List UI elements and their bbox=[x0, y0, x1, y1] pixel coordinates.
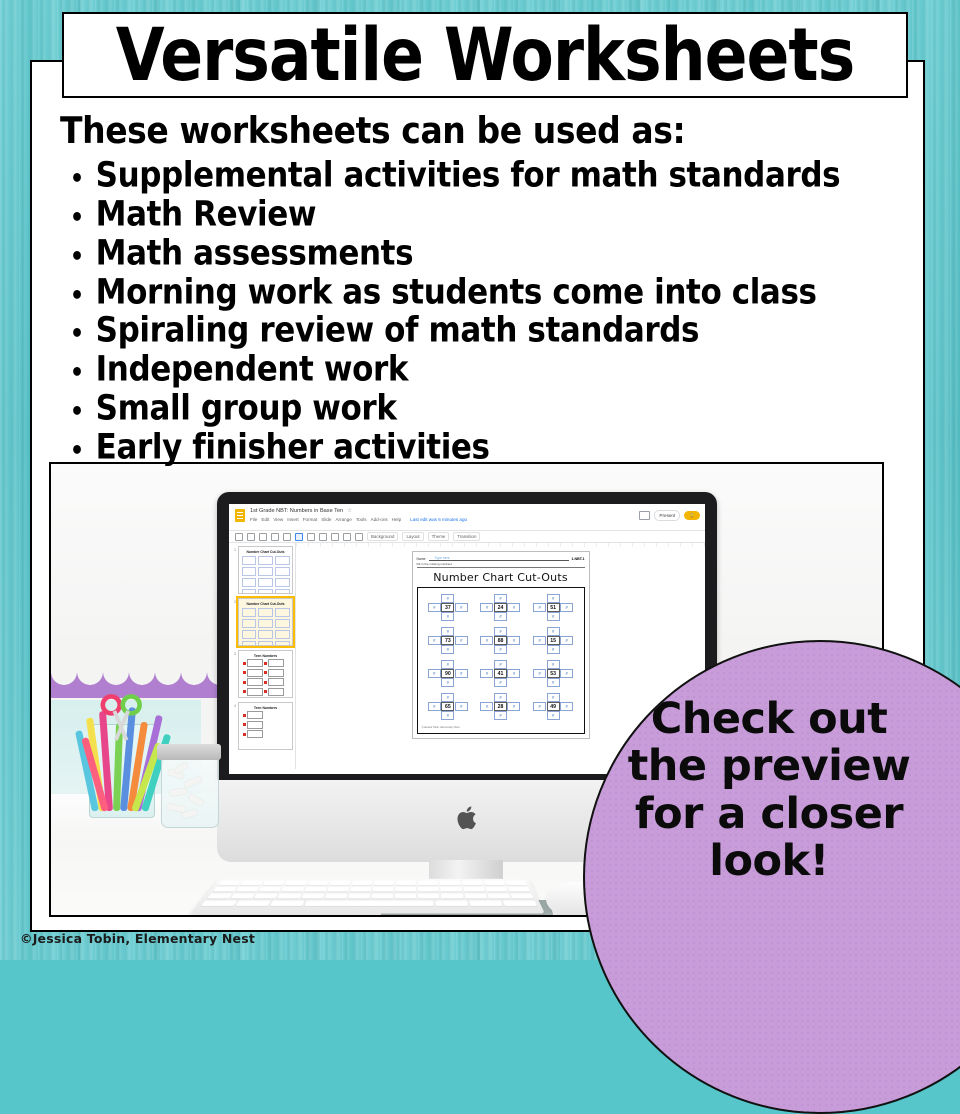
key bbox=[231, 894, 256, 899]
blank-cell-bottom[interactable]: # bbox=[441, 678, 454, 687]
bullet-icon: • bbox=[70, 400, 84, 425]
keyboard-row bbox=[218, 881, 527, 885]
number-plus-cell[interactable]: # # 41 # # bbox=[479, 660, 521, 687]
blank-cell-bottom[interactable]: # bbox=[441, 612, 454, 621]
present-button[interactable]: Present bbox=[654, 510, 680, 521]
thumbnail-title: Number Chart Cut-Outs bbox=[241, 602, 291, 606]
key bbox=[351, 881, 372, 885]
thumbnail-tenframe-row bbox=[243, 730, 289, 738]
thumbnail-cell bbox=[242, 578, 257, 587]
bullet-icon: • bbox=[70, 361, 84, 386]
blank-cell-top[interactable]: # bbox=[547, 627, 560, 636]
content-body: These worksheets can be used as: •Supple… bbox=[60, 110, 900, 464]
lead-text: These worksheets can be used as: bbox=[60, 110, 900, 152]
counter-dot bbox=[243, 671, 246, 674]
apple-logo-icon bbox=[456, 805, 478, 831]
zoom-icon[interactable] bbox=[283, 533, 291, 541]
worksheet-slide[interactable]: Name Type here 1.NBT.1 Fill in the missi… bbox=[412, 551, 590, 739]
key bbox=[201, 901, 237, 906]
thumbnail-cell bbox=[242, 567, 257, 576]
blank-cell-right[interactable]: # bbox=[455, 702, 468, 711]
list-item-label: Independent work bbox=[96, 348, 408, 391]
key bbox=[418, 887, 439, 892]
key bbox=[258, 887, 281, 892]
thumbnail-cell bbox=[258, 589, 273, 595]
list-item: •Math assessments bbox=[70, 232, 900, 275]
key bbox=[263, 881, 286, 885]
key bbox=[508, 887, 531, 892]
blank-cell-left[interactable]: # bbox=[480, 669, 493, 678]
comment-icon[interactable] bbox=[639, 511, 650, 520]
menu-item-tools[interactable]: Tools bbox=[356, 517, 367, 523]
key bbox=[371, 894, 393, 899]
chalk-jar bbox=[161, 752, 219, 828]
blank-cell-bottom[interactable]: # bbox=[547, 711, 560, 720]
key bbox=[307, 881, 329, 885]
blank-cell-left[interactable]: # bbox=[428, 636, 441, 645]
slide-number: 3 bbox=[231, 650, 236, 656]
blank-cell-top[interactable]: # bbox=[494, 594, 507, 603]
number-plus-cell[interactable]: # # 24 # # bbox=[479, 594, 521, 621]
given-number: 24 bbox=[494, 603, 507, 612]
blank-cell-top[interactable]: # bbox=[547, 660, 560, 669]
page-title: Versatile Worksheets bbox=[116, 18, 854, 91]
worksheet-name-row: Name Type here 1.NBT.1 bbox=[417, 555, 585, 561]
spacebar-key bbox=[304, 901, 433, 906]
thumbnail-title: Teen Numbers bbox=[241, 706, 291, 710]
thumbnail-cell bbox=[242, 589, 257, 595]
blank-cell-right[interactable]: # bbox=[455, 603, 468, 612]
menu-item-help[interactable]: Help bbox=[392, 517, 401, 523]
thumbnail-title: Teen Numbers bbox=[241, 654, 291, 658]
key bbox=[324, 894, 347, 899]
key bbox=[236, 887, 260, 892]
blank-cell-left[interactable]: # bbox=[480, 603, 493, 612]
key bbox=[463, 887, 485, 892]
select-tool-icon[interactable] bbox=[295, 533, 303, 541]
menu-item-insert[interactable]: Insert bbox=[287, 517, 299, 523]
number-plus-cell[interactable]: # # 65 # # bbox=[427, 693, 469, 720]
key bbox=[418, 881, 438, 885]
last-edit-label[interactable]: Last edit was 6 minutes ago bbox=[410, 517, 467, 523]
textbox-icon[interactable] bbox=[307, 533, 315, 541]
list-item[interactable]: 2 Number Chart Cut-Outs bbox=[231, 598, 293, 646]
menu-item-format[interactable]: Format bbox=[303, 517, 318, 523]
apple-keyboard[interactable] bbox=[190, 879, 545, 914]
ten-frame bbox=[247, 711, 263, 719]
lock-icon: 🔒 bbox=[689, 513, 695, 519]
benefits-list: •Supplemental activities for math standa… bbox=[60, 154, 900, 464]
key bbox=[469, 901, 502, 906]
blank-cell-right[interactable]: # bbox=[560, 636, 573, 645]
blank-cell-right[interactable]: # bbox=[507, 636, 520, 645]
thumbnail-cell bbox=[275, 608, 290, 617]
blank-cell-top[interactable]: # bbox=[441, 627, 454, 636]
blank-cell-bottom[interactable]: # bbox=[494, 645, 507, 654]
ten-frame bbox=[247, 659, 263, 667]
callout-line-2: the preview bbox=[585, 743, 953, 790]
ten-frame bbox=[268, 688, 284, 696]
slides-title-area: 1st Grade NBT: Numbers in Base Ten☆ File… bbox=[250, 508, 639, 523]
counter-dot bbox=[264, 681, 267, 684]
share-button[interactable]: 🔒 bbox=[684, 511, 700, 520]
key bbox=[218, 881, 242, 885]
number-plus-cell[interactable]: # # 53 # # bbox=[532, 660, 574, 687]
bullet-icon: • bbox=[70, 245, 84, 270]
list-item-label: Early finisher activities bbox=[96, 426, 490, 469]
list-item-label: Small group work bbox=[96, 387, 397, 430]
document-title[interactable]: 1st Grade NBT: Numbers in Base Ten☆ bbox=[250, 508, 639, 515]
menu-item-slide[interactable]: Slide bbox=[321, 517, 331, 523]
blank-cell-top[interactable]: # bbox=[547, 594, 560, 603]
slides-toolbar: Background Layout Theme Transition bbox=[229, 530, 705, 543]
list-item-label: Math assessments bbox=[96, 232, 413, 275]
number-plus-cell[interactable]: # # 73 # # bbox=[427, 627, 469, 654]
title-banner: Versatile Worksheets bbox=[62, 12, 908, 98]
chalk-piece bbox=[184, 776, 203, 789]
thumbnail-cell bbox=[242, 641, 257, 647]
number-plus-cell[interactable]: # # 49 # # bbox=[532, 693, 574, 720]
counter-dot bbox=[243, 723, 246, 726]
key bbox=[373, 887, 394, 892]
thumbnail-cell bbox=[258, 556, 273, 565]
slides-menubar[interactable]: File Edit View Insert Format Slide Arran… bbox=[250, 517, 639, 523]
blank-cell-top[interactable]: # bbox=[494, 660, 507, 669]
bullet-icon: • bbox=[70, 168, 84, 193]
thumbnail-cell bbox=[258, 567, 273, 576]
list-item[interactable]: 3 Teen Numbers bbox=[231, 650, 293, 698]
blank-cell-top[interactable]: # bbox=[494, 627, 507, 636]
key bbox=[396, 881, 416, 885]
key bbox=[329, 881, 350, 885]
key bbox=[236, 901, 271, 906]
list-item: •Spiraling review of math standards bbox=[70, 309, 900, 352]
key bbox=[254, 894, 278, 899]
ten-frame bbox=[247, 730, 263, 738]
thumbnail-title: Number Chart Cut-Outs bbox=[241, 550, 291, 554]
ten-frame bbox=[268, 659, 284, 667]
bullet-icon: • bbox=[70, 323, 84, 348]
list-item: •Small group work bbox=[70, 387, 900, 430]
thumbnail-cell bbox=[275, 556, 290, 565]
key bbox=[485, 887, 507, 892]
thumbnail-cell bbox=[258, 608, 273, 617]
key bbox=[240, 881, 263, 885]
bullet-icon: • bbox=[70, 439, 84, 464]
key bbox=[487, 894, 510, 899]
blank-cell-bottom[interactable]: # bbox=[547, 612, 560, 621]
slide-thumbnail-2[interactable]: Number Chart Cut-Outs bbox=[238, 598, 293, 646]
given-number: 49 bbox=[547, 702, 560, 711]
key bbox=[440, 881, 461, 885]
key bbox=[304, 887, 327, 892]
key bbox=[441, 887, 462, 892]
given-number: 41 bbox=[494, 669, 507, 678]
blank-cell-right[interactable]: # bbox=[507, 702, 520, 711]
worksheet-title: Number Chart Cut-Outs bbox=[417, 571, 585, 584]
jar-lid bbox=[157, 744, 221, 760]
shape-icon[interactable] bbox=[331, 533, 339, 541]
worksheet-credit: ©Jessica Tobin, Elementary Nest bbox=[422, 726, 580, 729]
thumbnail-grid bbox=[241, 555, 291, 595]
counter-dot bbox=[243, 690, 246, 693]
blank-cell-bottom[interactable]: # bbox=[494, 711, 507, 720]
thumbnail-cell bbox=[275, 641, 290, 647]
thumbnail-tenframe-row bbox=[243, 659, 289, 667]
counter-dot bbox=[264, 671, 267, 674]
number-plus-cell[interactable]: # # 90 # # bbox=[427, 660, 469, 687]
key bbox=[441, 894, 463, 899]
slide-number: 2 bbox=[231, 598, 236, 604]
key bbox=[348, 894, 370, 899]
counter-dot bbox=[264, 662, 267, 665]
given-number: 51 bbox=[547, 603, 560, 612]
key bbox=[395, 894, 416, 899]
image-icon[interactable] bbox=[319, 533, 327, 541]
blank-cell-bottom[interactable]: # bbox=[547, 645, 560, 654]
blank-cell-left[interactable]: # bbox=[428, 669, 441, 678]
keyboard-row bbox=[201, 901, 537, 906]
list-item: •Independent work bbox=[70, 348, 900, 391]
key bbox=[395, 887, 416, 892]
key bbox=[285, 881, 307, 885]
slides-actions: Present 🔒 bbox=[639, 510, 700, 521]
chalk-piece bbox=[170, 788, 188, 796]
chalk-piece bbox=[188, 793, 205, 806]
menu-item-file[interactable]: File bbox=[250, 517, 257, 523]
name-label: Name bbox=[417, 557, 426, 561]
ten-frame bbox=[247, 669, 263, 677]
thumbnail-tenframe-row bbox=[243, 721, 289, 729]
thumbnail-cell bbox=[258, 578, 273, 587]
bullet-icon: • bbox=[70, 284, 84, 309]
blank-cell-bottom[interactable]: # bbox=[494, 612, 507, 621]
list-item: •Early finisher activities bbox=[70, 426, 900, 469]
blank-cell-left[interactable]: # bbox=[533, 603, 546, 612]
blank-cell-left[interactable]: # bbox=[428, 603, 441, 612]
number-plus-cell[interactable]: # # 37 # # bbox=[427, 594, 469, 621]
callout-line-3: for a closer bbox=[585, 791, 953, 838]
blank-cell-bottom[interactable]: # bbox=[547, 678, 560, 687]
table-row: # # 37 # # # # bbox=[422, 594, 580, 621]
worksheet-grid: # # 37 # # # # bbox=[417, 587, 585, 734]
paint-format-icon[interactable] bbox=[271, 533, 279, 541]
menu-item-arrange[interactable]: Arrange bbox=[335, 517, 351, 523]
key bbox=[503, 901, 537, 906]
thumbnail-cell bbox=[242, 556, 257, 565]
blank-cell-top[interactable]: # bbox=[441, 693, 454, 702]
ten-frame bbox=[268, 669, 284, 677]
counter-dot bbox=[243, 681, 246, 684]
counter-dot bbox=[243, 714, 246, 717]
key bbox=[418, 894, 439, 899]
key bbox=[270, 901, 305, 906]
slide-number: 4 bbox=[231, 702, 236, 708]
number-plus-cell[interactable]: # # 15 # # bbox=[532, 627, 574, 654]
thumbnail-tenframe-row bbox=[243, 669, 289, 677]
slide-number: 1 bbox=[231, 546, 236, 552]
menu-item-edit[interactable]: Edit bbox=[261, 517, 269, 523]
blank-cell-top[interactable]: # bbox=[547, 693, 560, 702]
key bbox=[301, 894, 324, 899]
number-plus-cell[interactable]: # # 28 # # bbox=[479, 693, 521, 720]
key bbox=[281, 887, 304, 892]
key bbox=[374, 881, 395, 885]
list-item[interactable]: 1 Number Chart Cut-Outs bbox=[231, 546, 293, 594]
blank-cell-top[interactable]: # bbox=[441, 594, 454, 603]
thumbnail-cell bbox=[275, 578, 290, 587]
counter-dot bbox=[264, 690, 267, 693]
list-item: •Supplemental activities for math standa… bbox=[70, 154, 900, 197]
blank-cell-right[interactable]: # bbox=[507, 603, 520, 612]
blank-cell-right[interactable]: # bbox=[560, 603, 573, 612]
thumbnail-grid bbox=[241, 607, 291, 647]
copyright-credit: ©Jessica Tobin, Elementary Nest bbox=[20, 931, 255, 946]
key bbox=[464, 894, 486, 899]
line-icon[interactable] bbox=[343, 533, 351, 541]
list-item[interactable]: 4 Teen Numbers bbox=[231, 702, 293, 750]
document-title-text: 1st Grade NBT: Numbers in Base Ten bbox=[250, 508, 343, 514]
blank-cell-left[interactable]: # bbox=[428, 702, 441, 711]
given-number: 65 bbox=[441, 702, 454, 711]
key bbox=[505, 881, 527, 885]
print-icon[interactable] bbox=[259, 533, 267, 541]
thumbnail-cell bbox=[258, 630, 273, 639]
new-slide-icon[interactable] bbox=[355, 533, 363, 541]
slides-header: 1st Grade NBT: Numbers in Base Ten☆ File… bbox=[229, 504, 705, 530]
blank-cell-left[interactable]: # bbox=[533, 702, 546, 711]
given-number: 88 bbox=[494, 636, 507, 645]
thumbnail-cell bbox=[258, 641, 273, 647]
given-number: 53 bbox=[547, 669, 560, 678]
thumbnail-cell bbox=[275, 589, 290, 595]
thumbnail-cell bbox=[275, 630, 290, 639]
blank-cell-bottom[interactable]: # bbox=[441, 645, 454, 654]
given-number: 90 bbox=[441, 669, 454, 678]
keyboard-row bbox=[213, 887, 531, 892]
undo-icon[interactable] bbox=[235, 533, 243, 541]
key bbox=[327, 887, 349, 892]
layout-button[interactable]: Layout bbox=[402, 532, 423, 541]
list-item-label: Morning work as students come into class bbox=[96, 271, 817, 314]
star-icon[interactable]: ☆ bbox=[347, 508, 352, 514]
chalk-piece bbox=[167, 803, 187, 812]
preview-callout-circle[interactable]: Check out the preview for a closer look! bbox=[583, 640, 960, 1114]
list-item: •Morning work as students come into clas… bbox=[70, 271, 900, 314]
ten-frame bbox=[247, 721, 263, 729]
thumbnail-tenframe-row bbox=[243, 688, 289, 696]
thumbnail-cell bbox=[258, 619, 273, 628]
worksheet-instruction: Fill in the missing numbers bbox=[417, 562, 585, 568]
scissors-icon bbox=[99, 694, 145, 748]
table-row: # # 73 # # # # bbox=[422, 627, 580, 654]
blank-cell-right[interactable]: # bbox=[455, 669, 468, 678]
counter-dot bbox=[243, 733, 246, 736]
bullet-icon: • bbox=[70, 206, 84, 231]
ten-frame bbox=[247, 678, 263, 686]
slides-document-icon bbox=[235, 509, 245, 522]
thumbnail-tenframe-row bbox=[243, 678, 289, 686]
menu-item-addons[interactable]: Add-ons bbox=[371, 517, 388, 523]
thumbnail-cell bbox=[242, 630, 257, 639]
blank-cell-left[interactable]: # bbox=[480, 702, 493, 711]
background-button[interactable]: Background bbox=[367, 532, 398, 541]
blank-cell-right[interactable]: # bbox=[455, 636, 468, 645]
keyboard-row bbox=[207, 894, 534, 899]
ten-frame bbox=[247, 688, 263, 696]
blank-cell-left[interactable]: # bbox=[533, 636, 546, 645]
key bbox=[213, 887, 237, 892]
callout-text: Check out the preview for a closer look! bbox=[585, 696, 953, 885]
redo-icon[interactable] bbox=[247, 533, 255, 541]
callout-line-4: look! bbox=[585, 838, 953, 885]
given-number: 28 bbox=[494, 702, 507, 711]
thumbnail-cell bbox=[242, 608, 257, 617]
number-plus-cell[interactable]: # # 51 # # bbox=[532, 594, 574, 621]
blank-cell-bottom[interactable]: # bbox=[441, 711, 454, 720]
name-input[interactable]: Type here bbox=[429, 555, 569, 561]
present-label: Present bbox=[659, 513, 675, 518]
blank-cell-right[interactable]: # bbox=[560, 702, 573, 711]
standard-code: 1.NBT.1 bbox=[572, 557, 585, 561]
blank-cell-left[interactable]: # bbox=[533, 669, 546, 678]
name-placeholder: Type here bbox=[435, 556, 450, 560]
canvas-ruler bbox=[296, 543, 705, 547]
key bbox=[435, 901, 468, 906]
transition-button[interactable]: Transition bbox=[453, 532, 480, 541]
table-row: # # 90 # # # # bbox=[422, 660, 580, 687]
key bbox=[484, 881, 506, 885]
number-plus-cell[interactable]: # # 88 # # bbox=[479, 627, 521, 654]
slide-thumbnail-1[interactable]: Number Chart Cut-Outs bbox=[238, 546, 293, 594]
ten-frame bbox=[268, 678, 284, 686]
table-row: # # 65 # # # # bbox=[422, 693, 580, 720]
thumbnail-cell bbox=[242, 619, 257, 628]
thumbnail-tenframe-row bbox=[243, 711, 289, 719]
menu-item-view[interactable]: View bbox=[273, 517, 283, 523]
blank-cell-bottom[interactable]: # bbox=[494, 678, 507, 687]
blank-cell-top[interactable]: # bbox=[441, 660, 454, 669]
thumbnail-cell bbox=[275, 619, 290, 628]
key bbox=[278, 894, 302, 899]
callout-line-1: Check out bbox=[585, 696, 953, 743]
slide-thumbnail-panel[interactable]: 1 Number Chart Cut-Outs bbox=[229, 543, 296, 769]
key bbox=[350, 887, 372, 892]
slide-thumbnail-4[interactable]: Teen Numbers bbox=[238, 702, 293, 750]
key bbox=[462, 881, 483, 885]
key bbox=[510, 894, 533, 899]
given-number: 15 bbox=[547, 636, 560, 645]
blank-cell-top[interactable]: # bbox=[494, 693, 507, 702]
blank-cell-left[interactable]: # bbox=[480, 636, 493, 645]
key bbox=[207, 894, 232, 899]
theme-button[interactable]: Theme bbox=[428, 532, 450, 541]
blank-cell-right[interactable]: # bbox=[507, 669, 520, 678]
list-item-label: Spiraling review of math standards bbox=[96, 309, 699, 352]
list-item: •Math Review bbox=[70, 193, 900, 236]
given-number: 37 bbox=[441, 603, 454, 612]
given-number: 73 bbox=[441, 636, 454, 645]
thumbnail-cell bbox=[275, 567, 290, 576]
blank-cell-right[interactable]: # bbox=[560, 669, 573, 678]
slide-thumbnail-3[interactable]: Teen Numbers bbox=[238, 650, 293, 698]
counter-dot bbox=[243, 662, 246, 665]
list-item-label: Math Review bbox=[96, 193, 316, 236]
list-item-label: Supplemental activities for math standar… bbox=[96, 154, 841, 197]
